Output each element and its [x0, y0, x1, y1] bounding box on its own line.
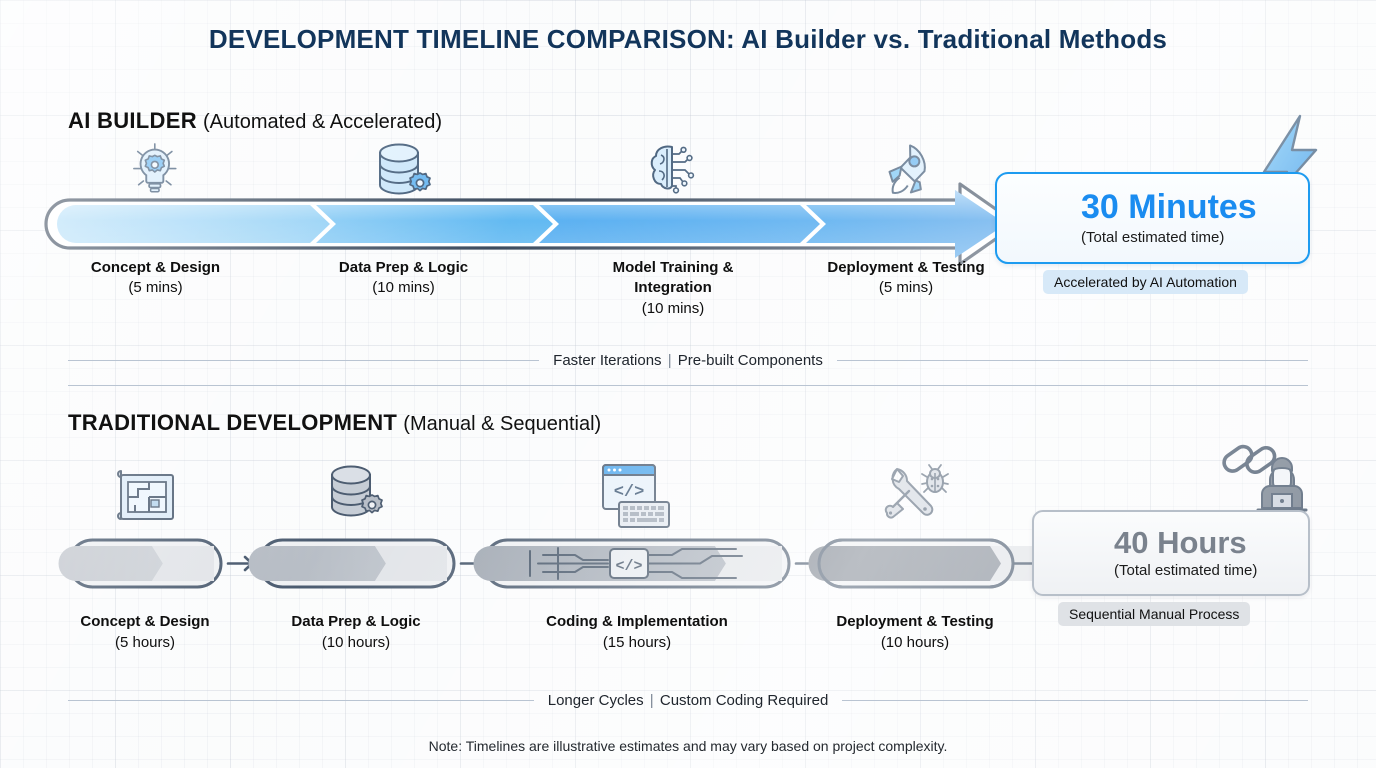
ai-step-name-4: Deployment & Testing	[816, 258, 996, 278]
ai-step-label-1: Concept & Design (5 mins)	[48, 258, 263, 299]
traditional-bar-2	[249, 540, 455, 587]
traditional-bar-4	[809, 540, 1046, 587]
traditional-tag-badge: Sequential Manual Process	[1058, 602, 1250, 626]
divider-rule-right	[837, 360, 1308, 361]
traditional-bar-1	[59, 540, 222, 587]
ai-divider-right-text: Pre-built Components	[678, 352, 823, 369]
traditional-heading-light: (Manual & Sequential)	[403, 413, 601, 435]
traditional-step-label-1: Concept & Design (5 hours)	[45, 611, 245, 653]
divider2-rule-right	[842, 700, 1308, 701]
traditional-step-name-1: Concept & Design	[45, 611, 245, 632]
wrench-bug-icon	[886, 465, 948, 518]
traditional-total-time-badge: 40 Hours (Total estimated time)	[1032, 510, 1310, 596]
section-separator-rule	[68, 385, 1308, 386]
ai-tag-badge: Accelerated by AI Automation	[1043, 270, 1248, 294]
ai-divider-text: Faster Iterations | Pre-built Components	[539, 352, 837, 369]
ai-heading-strong: AI BUILDER	[68, 108, 197, 133]
code-window-keyboard-icon: </>	[603, 465, 669, 527]
ai-total-time-caption: (Total estimated time)	[1081, 229, 1257, 246]
ai-timeline-arrow	[46, 184, 1017, 264]
traditional-step-label-2: Data Prep & Logic (10 hours)	[256, 611, 456, 653]
ai-step-name-2: Data Prep & Logic	[296, 258, 511, 278]
traditional-step-label-4: Deployment & Testing (10 hours)	[805, 611, 1025, 653]
ai-total-time-badge: 30 Minutes (Total estimated time)	[995, 172, 1310, 264]
footnote: Note: Timelines are illustrative estimat…	[0, 738, 1376, 754]
ai-divider-left-text: Faster Iterations	[553, 352, 661, 369]
ai-divider-caption: Faster Iterations | Pre-built Components	[68, 352, 1308, 369]
traditional-bar-3: </>	[474, 540, 790, 587]
traditional-step-duration-2: (10 hours)	[256, 632, 456, 653]
ai-step-name-1: Concept & Design	[48, 258, 263, 278]
ai-step-label-4: Deployment & Testing (5 mins)	[816, 258, 996, 299]
ai-total-time-value: 30 Minutes	[1081, 190, 1257, 224]
traditional-divider-right-text: Custom Coding Required	[660, 692, 828, 709]
ai-step-label-3: Model Training & Integration (10 mins)	[573, 258, 773, 319]
traditional-step-duration-1: (5 hours)	[45, 632, 245, 653]
traditional-timeline-bars: </>	[59, 540, 1046, 587]
ai-brain-circuit-icon	[652, 146, 694, 192]
traditional-step-name-3: Coding & Implementation	[507, 611, 767, 632]
ai-step-label-2: Data Prep & Logic (10 mins)	[296, 258, 511, 299]
traditional-step-label-3: Coding & Implementation (15 hours)	[507, 611, 767, 653]
page-title: DEVELOPMENT TIMELINE COMPARISON: AI Buil…	[0, 24, 1376, 55]
traditional-divider-left-text: Longer Cycles	[548, 692, 644, 709]
lightbulb-gear-icon	[134, 144, 176, 192]
traditional-divider-caption: Longer Cycles | Custom Coding Required	[68, 692, 1308, 709]
blueprint-icon	[118, 471, 173, 519]
ai-step-duration-3: (10 mins)	[573, 299, 773, 319]
database-gear-icon	[332, 467, 382, 516]
traditional-step-name-4: Deployment & Testing	[805, 611, 1025, 632]
ai-step-duration-2: (10 mins)	[296, 278, 511, 298]
divider2-rule-left	[68, 700, 534, 701]
ai-section-heading: AI BUILDER (Automated & Accelerated)	[68, 108, 442, 134]
database-gear-icon	[380, 145, 430, 194]
traditional-total-time-caption: (Total estimated time)	[1114, 562, 1257, 579]
svg-text:</>: </>	[615, 558, 642, 575]
svg-text:</>: </>	[614, 483, 645, 502]
traditional-step-name-2: Data Prep & Logic	[256, 611, 456, 632]
ai-heading-light: (Automated & Accelerated)	[203, 111, 442, 133]
ai-step-duration-4: (5 mins)	[816, 278, 996, 298]
ai-step-duration-1: (5 mins)	[48, 278, 263, 298]
traditional-total-time-value: 40 Hours	[1114, 527, 1257, 558]
traditional-divider-text: Longer Cycles | Custom Coding Required	[534, 692, 843, 709]
traditional-heading-strong: TRADITIONAL DEVELOPMENT	[68, 410, 397, 435]
traditional-step-duration-4: (10 hours)	[805, 632, 1025, 653]
divider-rule-left	[68, 360, 539, 361]
ai-step-name-3: Model Training & Integration	[573, 258, 773, 299]
traditional-section-heading: TRADITIONAL DEVELOPMENT (Manual & Sequen…	[68, 410, 601, 436]
rocket-icon	[889, 145, 925, 193]
traditional-step-duration-3: (15 hours)	[507, 632, 767, 653]
